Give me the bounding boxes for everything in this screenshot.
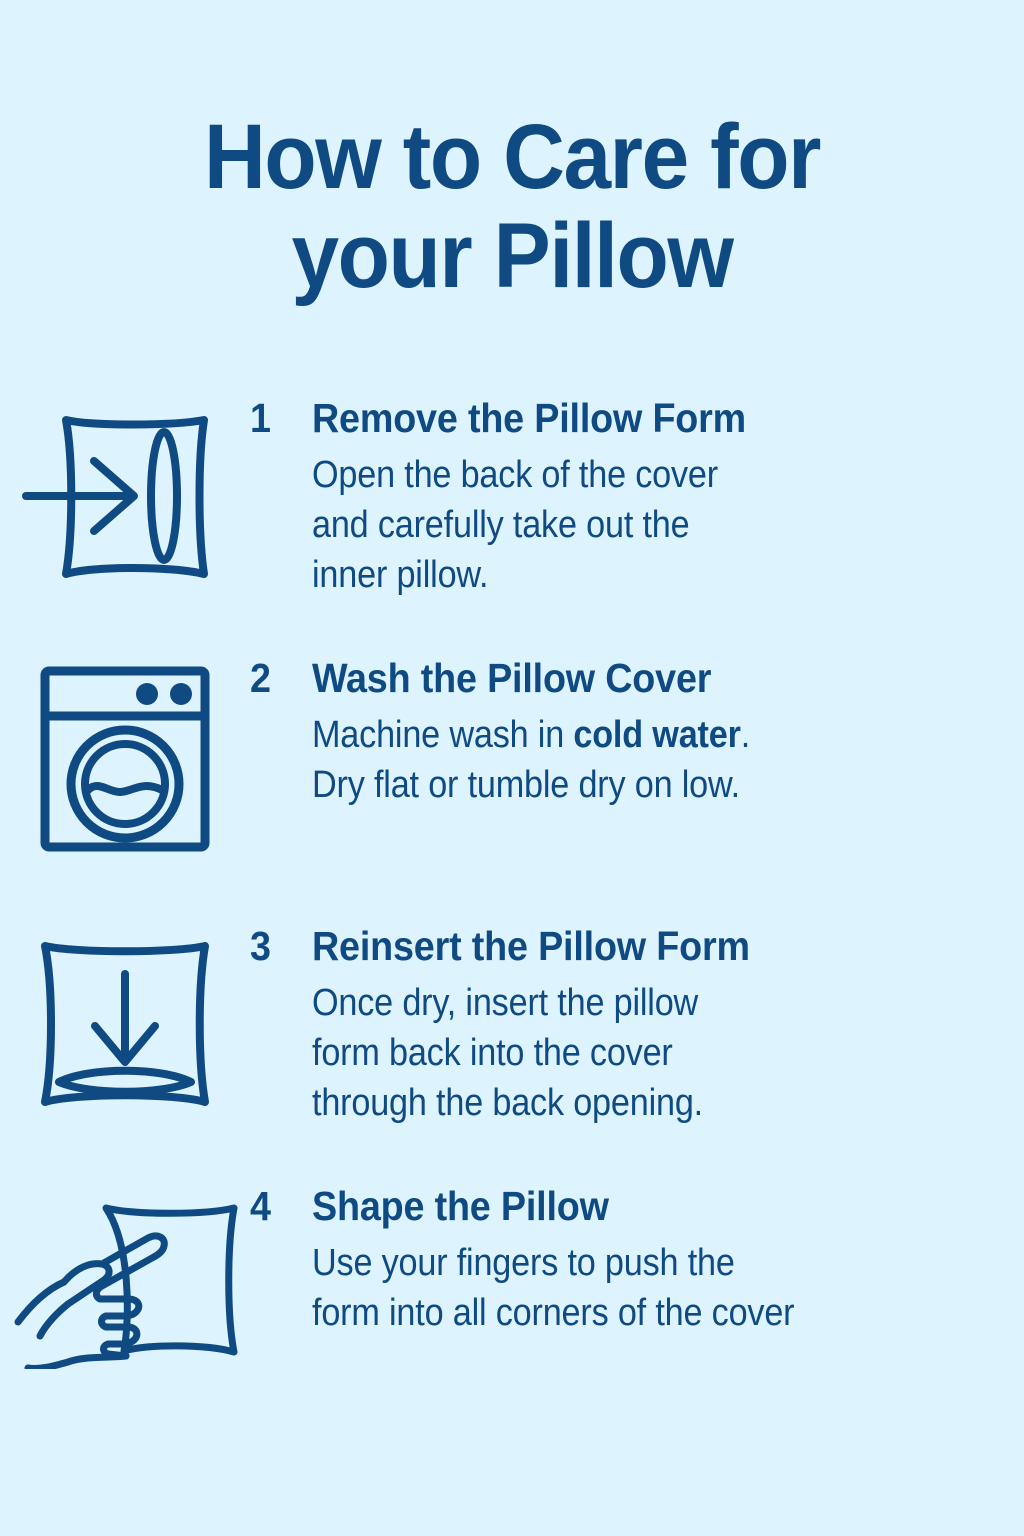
step-2-desc-line-1-pre: Machine wash in <box>312 714 573 756</box>
step-3-description: Once dry, insert the pillow form back in… <box>312 978 917 1128</box>
step-2-desc-emphasis: cold water <box>573 714 740 756</box>
pillow-with-down-arrow-icon <box>29 934 221 1114</box>
step-2-icon-wrap <box>0 652 250 852</box>
step-2-number: 2 <box>250 652 307 705</box>
step-item-1: 1 Remove the Pillow Form Open the back o… <box>0 392 1024 600</box>
step-2-body: 2 Wash the Pillow Cover Machine wash in … <box>250 652 1024 810</box>
step-1-heading: Remove the Pillow Form <box>312 392 930 445</box>
step-2-heading: Wash the Pillow Cover <box>312 652 930 705</box>
step-1-description: Open the back of the cover and carefully… <box>312 450 917 600</box>
step-4-number: 4 <box>250 1180 307 1233</box>
step-3-heading: Reinsert the Pillow Form <box>312 920 930 973</box>
step-1-desc-line-3: inner pillow. <box>312 550 917 600</box>
step-item-2: 2 Wash the Pillow Cover Machine wash in … <box>0 652 1024 852</box>
step-3-desc-line-3: through the back opening. <box>312 1078 917 1128</box>
step-1-text: Remove the Pillow Form Open the back of … <box>312 392 984 600</box>
hand-shaping-pillow-icon <box>6 1194 244 1369</box>
steps-list: 1 Remove the Pillow Form Open the back o… <box>0 392 1024 1369</box>
step-4-text: Shape the Pillow Use your fingers to pus… <box>312 1180 984 1338</box>
step-2-desc-line-2: Dry flat or tumble dry on low. <box>312 760 917 810</box>
step-2-desc-line-1: Machine wash in cold water. <box>312 710 917 760</box>
step-2-desc-line-1-post: . <box>741 714 750 756</box>
step-item-3: 3 Reinsert the Pillow Form Once dry, ins… <box>0 920 1024 1128</box>
step-1-desc-line-1: Open the back of the cover <box>312 450 917 500</box>
step-3-text: Reinsert the Pillow Form Once dry, inser… <box>312 920 984 1128</box>
page-title: How to Care for your Pillow <box>36 108 988 307</box>
step-4-heading: Shape the Pillow <box>312 1180 930 1233</box>
page-title-line-2: your Pillow <box>36 207 988 306</box>
step-4-desc-line-2: form into all corners of the cover <box>312 1288 917 1338</box>
washing-machine-icon <box>40 666 210 852</box>
step-4-description: Use your fingers to push the form into a… <box>312 1238 917 1338</box>
page-title-line-1: How to Care for <box>36 108 988 207</box>
step-1-desc-line-2: and carefully take out the <box>312 500 917 550</box>
step-4-body: 4 Shape the Pillow Use your fingers to p… <box>250 1180 1024 1338</box>
step-2-text: Wash the Pillow Cover Machine wash in co… <box>312 652 984 810</box>
step-item-4: 4 Shape the Pillow Use your fingers to p… <box>0 1180 1024 1369</box>
step-4-desc-line-1: Use your fingers to push the <box>312 1238 917 1288</box>
step-2-description: Machine wash in cold water. Dry flat or … <box>312 710 917 810</box>
step-3-icon-wrap <box>0 920 250 1114</box>
step-3-number: 3 <box>250 920 307 973</box>
infographic-poster: How to Care for your Pillow 1 Remove the… <box>0 0 1024 1536</box>
step-3-desc-line-2: form back into the cover <box>312 1028 917 1078</box>
step-3-desc-line-1: Once dry, insert the pillow <box>312 978 917 1028</box>
step-1-body: 1 Remove the Pillow Form Open the back o… <box>250 392 1024 600</box>
step-1-number: 1 <box>250 392 307 445</box>
step-4-icon-wrap <box>0 1180 250 1369</box>
pillow-with-arrow-in-icon <box>22 406 228 586</box>
step-3-body: 3 Reinsert the Pillow Form Once dry, ins… <box>250 920 1024 1128</box>
step-1-icon-wrap <box>0 392 250 586</box>
